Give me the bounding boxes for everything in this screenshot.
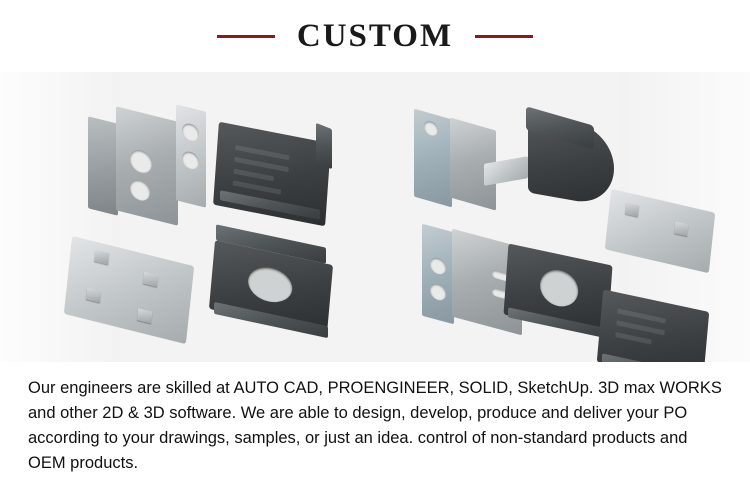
product-image-perforated-flat-panel-dark <box>216 124 336 229</box>
description-text: Our engineers are skilled at AUTO CAD, P… <box>28 376 722 476</box>
description-block: Our engineers are skilled at AUTO CAD, P… <box>0 362 750 488</box>
product-image-l-bracket-with-round-holes <box>80 114 205 224</box>
page-header: CUSTOM <box>0 0 750 72</box>
product-image-u-channel-with-oval-cutout <box>208 230 338 350</box>
product-gallery <box>0 72 750 362</box>
product-image-flat-plate-with-four-tabs <box>68 240 198 350</box>
product-image-angled-z-bracket <box>410 114 530 224</box>
product-image-perforated-panel-small-dark <box>600 296 718 362</box>
page-root: CUSTOM <box>0 0 750 488</box>
left-rule-decoration <box>217 35 275 38</box>
product-image-flat-plate-with-two-tabs <box>608 200 720 286</box>
page-title: CUSTOM <box>297 18 453 55</box>
right-rule-decoration <box>475 35 533 38</box>
